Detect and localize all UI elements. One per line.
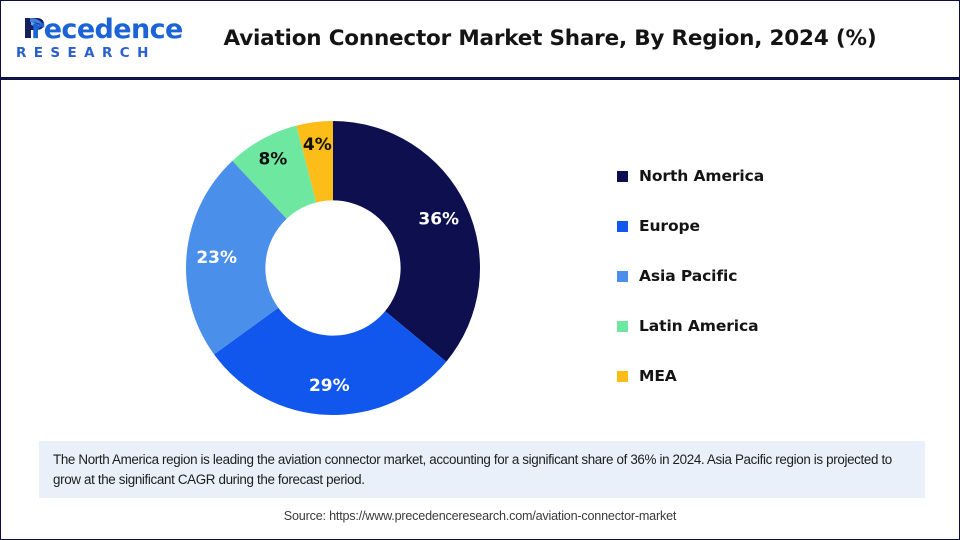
- legend-item-label: North America: [639, 167, 764, 185]
- donut-slice-label: 8%: [258, 150, 287, 170]
- insight-note-box: The North America region is leading the …: [39, 441, 925, 498]
- legend-item-label: Europe: [639, 217, 700, 235]
- page-title: Aviation Connector Market Share, By Regi…: [1, 1, 959, 77]
- legend-item[interactable]: Asia Pacific: [617, 251, 917, 301]
- legend-color-swatch: [617, 321, 628, 332]
- legend-item-label: Asia Pacific: [639, 267, 737, 285]
- donut-slice-label: 4%: [303, 135, 332, 155]
- legend-item[interactable]: Europe: [617, 201, 917, 251]
- chart-legend: North AmericaEuropeAsia PacificLatin Ame…: [617, 151, 917, 401]
- legend-color-swatch: [617, 271, 628, 282]
- donut-chart: 36%29%23%8%4%: [186, 121, 480, 415]
- donut-slice-label: 23%: [196, 248, 237, 268]
- legend-color-swatch: [617, 371, 628, 382]
- donut-slice[interactable]: [333, 121, 480, 362]
- legend-color-swatch: [617, 221, 628, 232]
- legend-color-swatch: [617, 171, 628, 182]
- legend-item[interactable]: MEA: [617, 351, 917, 401]
- source-link[interactable]: Source: https://www.precedenceresearch.c…: [1, 509, 959, 523]
- legend-item-label: MEA: [639, 367, 677, 385]
- chart-infographic-page: recedence RESEARCH Aviation Connector Ma…: [0, 0, 960, 540]
- donut-slice-label: 36%: [418, 209, 459, 229]
- insight-note-text: The North America region is leading the …: [53, 450, 911, 490]
- legend-item[interactable]: Latin America: [617, 301, 917, 351]
- donut-slice-label: 29%: [309, 376, 350, 396]
- header-bar: recedence RESEARCH Aviation Connector Ma…: [1, 1, 959, 80]
- legend-item[interactable]: North America: [617, 151, 917, 201]
- legend-item-label: Latin America: [639, 317, 758, 335]
- donut-chart-svg: 36%29%23%8%4%: [186, 121, 480, 415]
